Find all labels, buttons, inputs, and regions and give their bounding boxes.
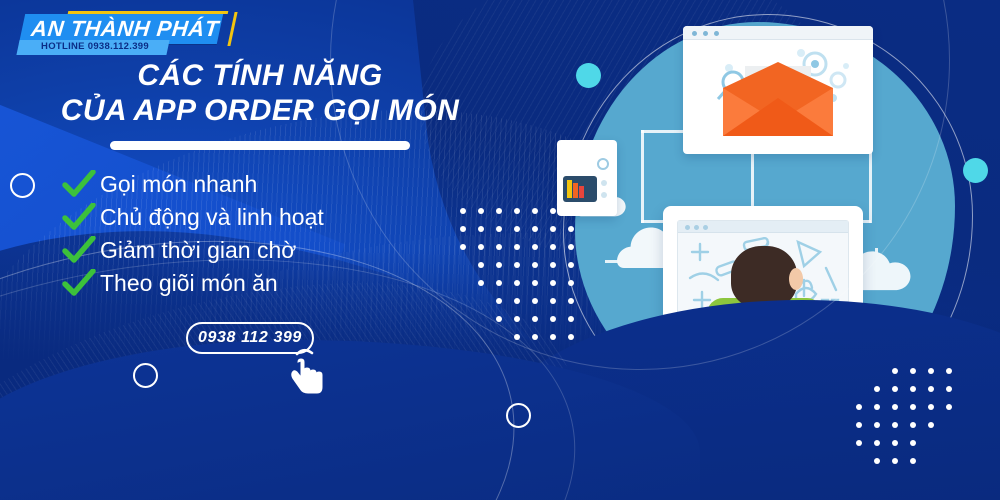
check-icon	[62, 269, 96, 299]
decor-dot-grid-right	[856, 368, 952, 464]
list-item: Giảm thời gian chờ	[62, 234, 422, 267]
brand-hotline: HOTLINE 0938.112.399	[22, 41, 168, 52]
check-icon	[62, 203, 96, 233]
headline-line-1: CÁC TÍNH NĂNG	[60, 58, 460, 93]
list-item: Chủ động và linh hoạt	[62, 201, 422, 234]
headline-divider	[110, 141, 410, 150]
decor-dot-cyan	[963, 158, 988, 183]
check-icon	[62, 170, 96, 200]
feature-label: Giảm thời gian chờ	[96, 237, 296, 264]
person-head	[731, 246, 797, 308]
promo-banner: AN THÀNH PHÁT HOTLINE 0938.112.399 CÁC T…	[0, 0, 1000, 500]
feature-list: Gọi món nhanh Chủ động và linh hoạt Giảm…	[62, 168, 422, 300]
decor-ring	[133, 363, 158, 388]
decor-ring	[10, 173, 35, 198]
check-icon	[62, 236, 96, 266]
headline-line-2: CỦA APP ORDER GỌI MÓN	[60, 93, 460, 128]
headline-block: CÁC TÍNH NĂNG CỦA APP ORDER GỌI MÓN	[60, 58, 460, 150]
list-item: Theo giõi món ăn	[62, 267, 422, 300]
decor-dot-cyan	[576, 63, 601, 88]
mobile-card-icon	[557, 140, 617, 216]
person-ear	[789, 268, 803, 290]
list-item: Gọi món nhanh	[62, 168, 422, 201]
network-line	[641, 130, 644, 223]
feature-label: Gọi món nhanh	[96, 171, 257, 198]
brand-logo[interactable]: AN THÀNH PHÁT HOTLINE 0938.112.399	[14, 10, 244, 58]
window-title-bar	[683, 26, 873, 40]
browser-window-card	[683, 26, 873, 154]
hand-pointer-icon	[288, 348, 328, 394]
decor-dot-grid-left	[460, 208, 574, 340]
phone-number: 0938 112 399	[198, 329, 302, 347]
feature-label: Theo giõi món ăn	[96, 270, 278, 297]
decor-ring	[506, 403, 531, 428]
brand-name: AN THÀNH PHÁT	[29, 16, 222, 42]
envelope-illustration	[683, 40, 873, 152]
feature-label: Chủ động và linh hoạt	[96, 204, 324, 231]
